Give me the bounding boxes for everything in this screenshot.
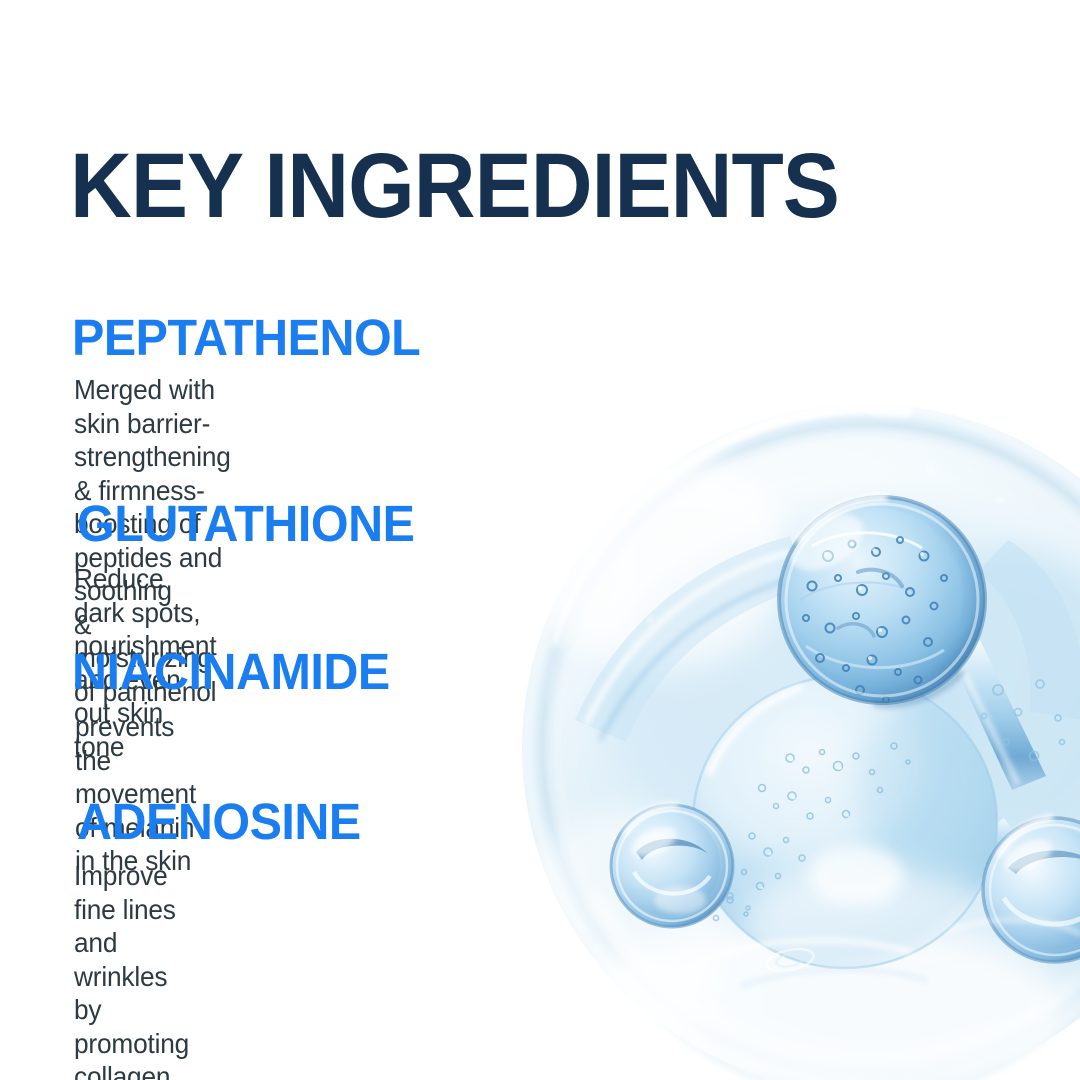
infographic-canvas: KEY INGREDIENTS PEPTATHENOL Merged with … (0, 0, 1080, 1080)
ingredient-name: PEPTATHENOL (72, 311, 420, 365)
ingredient-description: Improve fine lines and wrinkles by promo… (74, 859, 195, 1080)
ingredient-name: GLUTATHIONE (77, 497, 414, 551)
text-content: KEY INGREDIENTS PEPTATHENOL Merged with … (0, 0, 1080, 1080)
ingredient-name: ADENOSINE (77, 795, 361, 849)
ingredient-name: NIACINAMIDE (72, 645, 390, 699)
page-title: KEY INGREDIENTS (70, 138, 839, 234)
